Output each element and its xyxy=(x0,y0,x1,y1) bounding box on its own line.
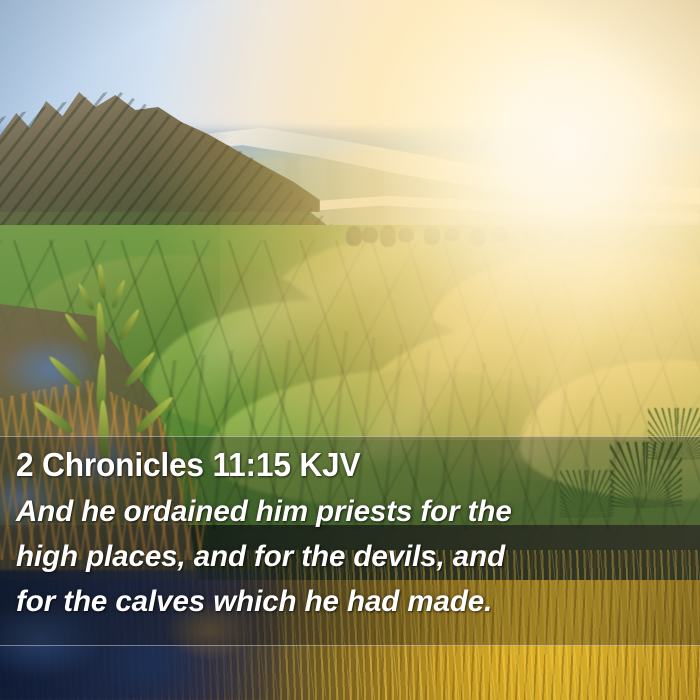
verse-overlay-panel: 2 Chronicles 11:15 KJV And he ordained h… xyxy=(0,436,700,646)
verse-reference: 2 Chronicles 11:15 KJV xyxy=(16,445,659,486)
tree-clumps xyxy=(340,212,580,248)
verse-text: And he ordained him priests for the high… xyxy=(16,489,676,624)
verse-line-3: for the calves which he had made. xyxy=(16,579,676,624)
verse-image-canvas: 2 Chronicles 11:15 KJV And he ordained h… xyxy=(0,0,700,700)
verse-line-2: high places, and for the devils, and xyxy=(16,534,676,579)
verse-line-1: And he ordained him priests for the xyxy=(16,489,676,534)
